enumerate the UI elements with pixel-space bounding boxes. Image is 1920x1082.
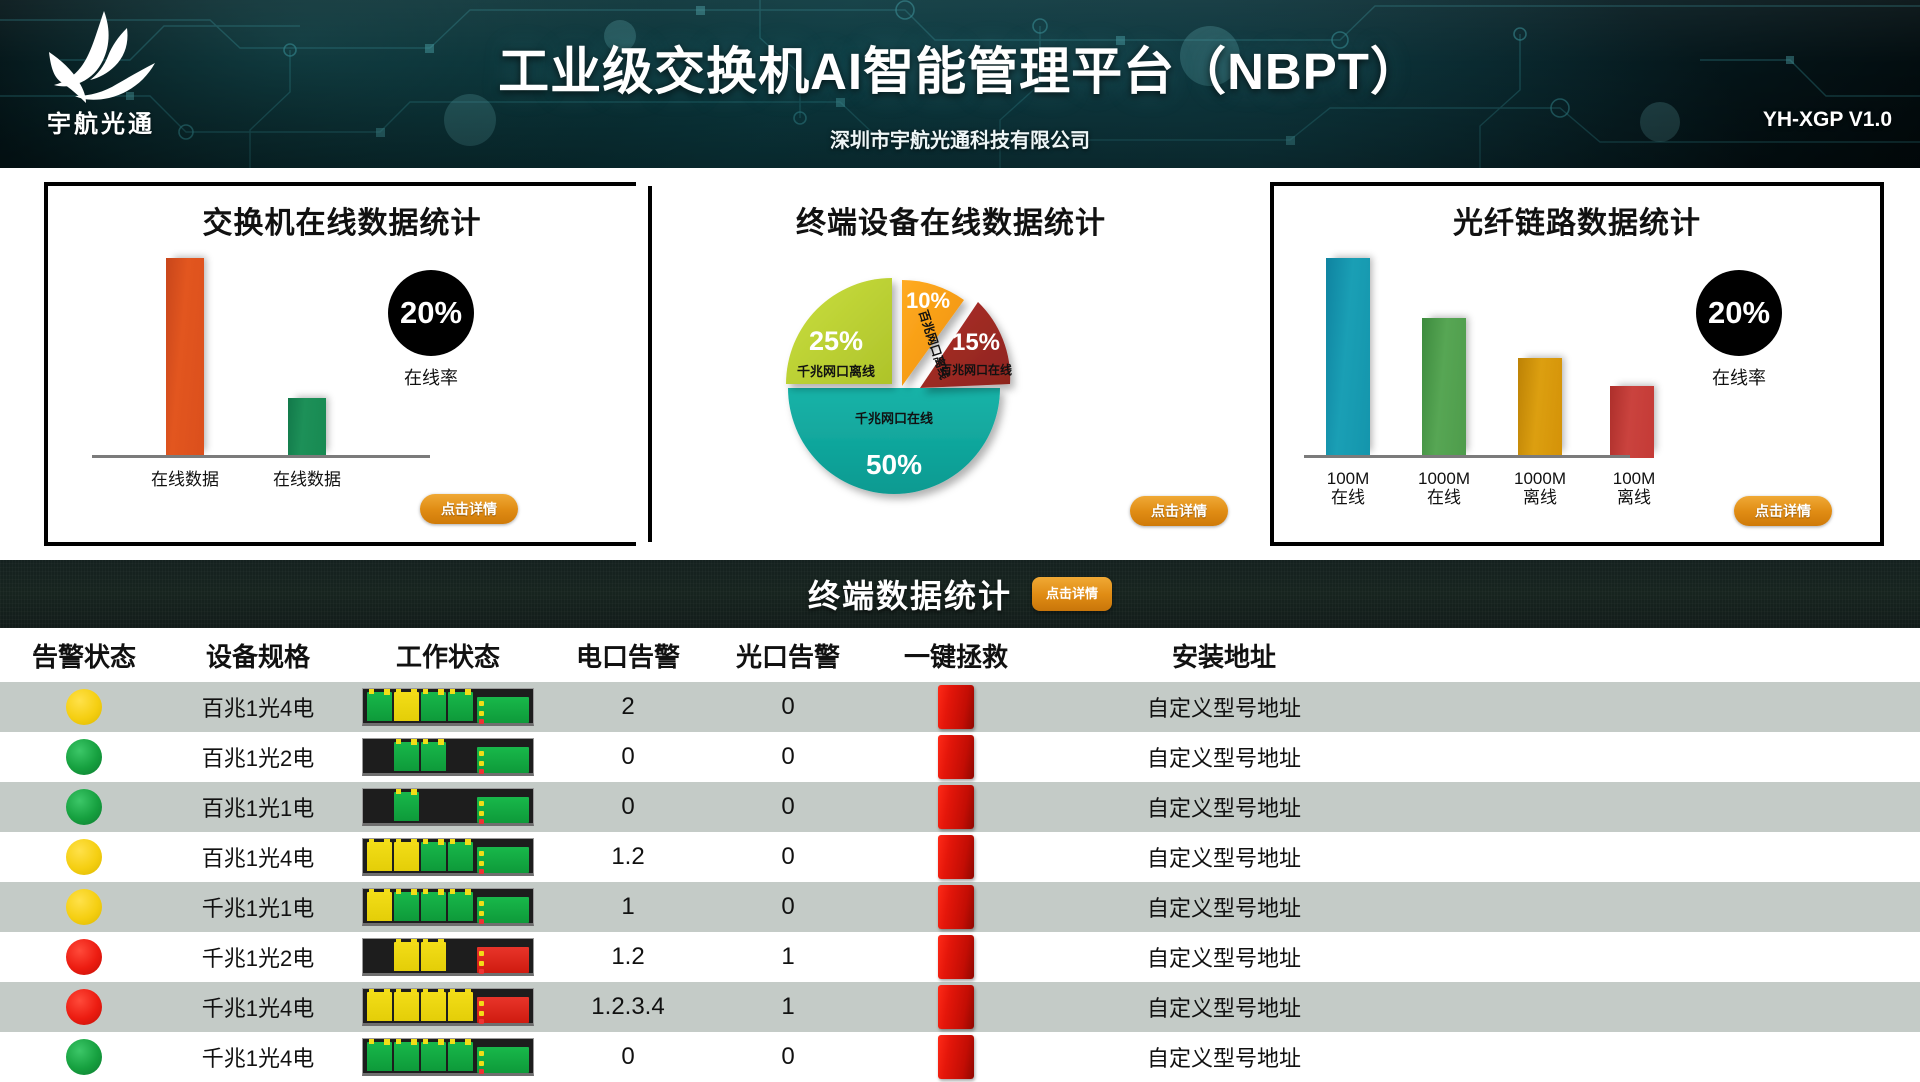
title-block: 工业级交换机AI智能管理平台（NBPT） 深圳市宇航光通科技有限公司 <box>0 30 1920 153</box>
cell-device-spec: 百兆1光4电 <box>168 832 348 882</box>
panel-terminal-title: 终端设备在线数据统计 <box>652 186 1250 242</box>
port-slot-4-off <box>448 942 473 971</box>
port-led-icon <box>411 739 417 745</box>
cell-device-spec: 百兆1光1电 <box>168 782 348 832</box>
one-key-rescue-button[interactable] <box>938 785 974 829</box>
bar-switch-1 <box>166 258 204 458</box>
port-slot-3-g <box>421 742 446 771</box>
port-led-icon <box>411 1039 417 1045</box>
port-led-icon <box>423 689 428 694</box>
fiber-led-icon <box>479 701 484 706</box>
port-slot-1-y <box>367 842 392 871</box>
bar-label-fiber-4: 100M离线 <box>1592 469 1676 508</box>
port-slot-1-g <box>367 1042 392 1071</box>
port-led-icon <box>396 889 401 894</box>
cell-alarm-status <box>0 932 168 982</box>
one-key-rescue-button[interactable] <box>938 935 974 979</box>
dashboard-panels: 交换机在线数据统计 在线数据 在线数据 20% 在线率 点击详情 终端设备在线数… <box>0 168 1920 560</box>
pie-label-gigabit-offline: 千兆网口离线 <box>797 364 875 379</box>
port-led-icon <box>423 839 428 844</box>
cell-device-spec: 千兆1光2电 <box>168 932 348 982</box>
page-title: 工业级交换机AI智能管理平台（NBPT） <box>0 30 1920 104</box>
port-slot-4-y <box>448 992 473 1021</box>
port-status-indicator[interactable] <box>362 688 534 726</box>
optical-port-alarm-value: 0 <box>781 743 794 771</box>
fiber-port-indicator <box>477 697 529 723</box>
port-slot-4-g <box>448 1042 473 1071</box>
port-led-icon <box>384 689 390 695</box>
column-header-work: 工作状态 <box>348 628 548 682</box>
table-header-row: 告警状态 设备规格 工作状态 电口告警 光口告警 一键拯救 安装地址 <box>0 628 1920 682</box>
bar-switch-2 <box>288 398 326 458</box>
port-led-icon <box>396 989 401 994</box>
column-header-alarm: 告警状态 <box>0 628 168 682</box>
port-slot-1-off <box>367 742 392 771</box>
install-address-label: 自定义型号地址 <box>1147 791 1301 823</box>
port-status-indicator[interactable] <box>362 788 534 826</box>
optical-port-alarm-value: 0 <box>781 843 794 871</box>
port-led-icon <box>369 839 374 844</box>
install-address-label: 自定义型号地址 <box>1147 891 1301 923</box>
panel-fiber-title: 光纤链路数据统计 <box>1274 186 1880 242</box>
one-key-rescue-button[interactable] <box>938 1035 974 1079</box>
optical-port-alarm-value: 0 <box>781 693 794 721</box>
cell-electrical-port-alarm: 1 <box>548 882 708 932</box>
port-led-icon <box>438 839 444 845</box>
cell-device-spec: 千兆1光4电 <box>168 982 348 1032</box>
cell-work-status[interactable] <box>348 682 548 732</box>
port-led-icon <box>396 839 401 844</box>
electrical-port-alarm-value: 1.2 <box>611 843 644 871</box>
fiber-led-icon <box>479 901 484 906</box>
cell-work-status[interactable] <box>348 1032 548 1082</box>
install-address-label: 自定义型号地址 <box>1147 841 1301 873</box>
port-led-icon <box>423 939 428 944</box>
cell-device-spec: 千兆1光1电 <box>168 882 348 932</box>
bar-fiber-2 <box>1422 318 1466 458</box>
port-slot-2-g <box>394 1042 419 1071</box>
port-slot-2-y <box>394 992 419 1021</box>
port-led-icon <box>450 989 455 994</box>
terminal-detail-button[interactable]: 点击详情 <box>1130 496 1228 526</box>
table-row[interactable]: 百兆1光2电00自定义型号地址 <box>0 732 1920 782</box>
port-led-icon <box>396 939 401 944</box>
alarm-status-yellow-icon <box>66 889 102 925</box>
device-spec-label: 千兆1光1电 <box>202 891 314 923</box>
fiber-port-indicator <box>477 797 529 823</box>
online-rate-value-fiber: 20% <box>1708 295 1770 331</box>
fiber-led-icon <box>479 1061 484 1066</box>
electrical-port-alarm-value: 1 <box>621 893 634 921</box>
fiber-led-icon <box>479 811 484 816</box>
device-spec-label: 百兆1光4电 <box>202 691 314 723</box>
electrical-port-alarm-value: 2 <box>621 693 634 721</box>
cell-optical-port-alarm: 0 <box>708 1032 868 1082</box>
port-slot-3-g <box>421 692 446 721</box>
x-axis-line-fiber <box>1304 455 1630 458</box>
app-header: 宇航光通 工业级交换机AI智能管理平台（NBPT） 深圳市宇航光通科技有限公司 … <box>0 0 1920 168</box>
cell-optical-port-alarm: 0 <box>708 682 868 732</box>
table-row[interactable]: 百兆1光4电20自定义型号地址 <box>0 682 1920 732</box>
cell-install-address: 自定义型号地址 <box>1044 982 1404 1032</box>
port-led-icon <box>396 689 401 694</box>
port-led-icon <box>438 739 444 745</box>
cell-one-key-rescue[interactable] <box>868 1032 1044 1082</box>
bar-label-switch-2: 在线数据 <box>252 470 362 490</box>
fiber-led-icon <box>479 751 484 756</box>
port-led-icon <box>384 1039 390 1045</box>
fiber-led-icon <box>479 911 484 916</box>
port-led-icon <box>411 689 417 695</box>
table-row[interactable]: 千兆1光1电10自定义型号地址 <box>0 882 1920 932</box>
port-led-icon <box>411 839 417 845</box>
cell-electrical-port-alarm: 1.2 <box>548 832 708 882</box>
company-name: 深圳市宇航光通科技有限公司 <box>0 124 1920 153</box>
port-led-icon <box>423 1039 428 1044</box>
port-led-icon <box>396 739 401 744</box>
port-slot-3-off <box>421 792 446 821</box>
fiber-detail-button[interactable]: 点击详情 <box>1734 496 1832 526</box>
cell-spacer <box>1404 932 1920 982</box>
optical-port-alarm-value: 0 <box>781 1043 794 1071</box>
port-status-indicator[interactable] <box>362 838 534 876</box>
cell-work-status[interactable] <box>348 732 548 782</box>
fiber-led-icon <box>479 801 484 806</box>
port-led-icon <box>450 839 455 844</box>
cell-electrical-port-alarm: 0 <box>548 1032 708 1082</box>
table-row[interactable]: 百兆1光4电1.20自定义型号地址 <box>0 832 1920 882</box>
port-led-icon <box>411 789 417 795</box>
cell-spacer <box>1404 882 1920 932</box>
x-axis-line <box>92 455 430 458</box>
port-led-icon <box>369 989 374 994</box>
cell-alarm-status <box>0 832 168 882</box>
port-led-icon <box>438 989 444 995</box>
cell-one-key-rescue[interactable] <box>868 932 1044 982</box>
cell-spacer <box>1404 782 1920 832</box>
port-slot-4-off <box>448 742 473 771</box>
fiber-led-icon <box>479 1051 484 1056</box>
bar-label-fiber-3: 1000M离线 <box>1492 469 1588 508</box>
cell-one-key-rescue[interactable] <box>868 882 1044 932</box>
one-key-rescue-button[interactable] <box>938 735 974 779</box>
fiber-port-indicator <box>477 997 529 1023</box>
cell-alarm-status <box>0 1032 168 1082</box>
port-slot-2-y <box>394 842 419 871</box>
pie-label-100m-online: 百兆网口在线 <box>940 362 1012 377</box>
port-status-indicator[interactable] <box>362 988 534 1026</box>
alarm-status-yellow-icon <box>66 689 102 725</box>
cell-alarm-status <box>0 782 168 832</box>
port-status-indicator[interactable] <box>362 738 534 776</box>
fiber-port-indicator <box>477 1047 529 1073</box>
fiber-port-indicator <box>477 897 529 923</box>
fiber-led-icon <box>479 851 484 856</box>
cell-one-key-rescue[interactable] <box>868 682 1044 732</box>
table-row[interactable]: 千兆1光4电00自定义型号地址 <box>0 1032 1920 1082</box>
port-led-icon <box>465 1039 471 1045</box>
pie-value-gigabit-online: 50% <box>866 449 922 480</box>
cell-install-address: 自定义型号地址 <box>1044 682 1404 732</box>
fiber-led-icon <box>479 819 484 824</box>
cell-work-status[interactable] <box>348 832 548 882</box>
cell-spacer <box>1404 682 1920 732</box>
cell-spacer <box>1404 982 1920 1032</box>
electrical-port-alarm-value: 0 <box>621 1043 634 1071</box>
column-header-eport: 电口告警 <box>548 628 708 682</box>
install-address-label: 自定义型号地址 <box>1147 741 1301 773</box>
port-led-icon <box>450 889 455 894</box>
port-slot-3-y <box>421 992 446 1021</box>
cell-electrical-port-alarm: 1.2 <box>548 932 708 982</box>
cell-install-address: 自定义型号地址 <box>1044 732 1404 782</box>
cell-alarm-status <box>0 732 168 782</box>
panel-switch-title: 交换机在线数据统计 <box>48 186 636 242</box>
optical-port-alarm-value: 1 <box>781 993 794 1021</box>
section-title: 终端数据统计 <box>808 571 1012 617</box>
panel-terminal-stats: 终端设备在线数据统计 <box>636 168 1260 560</box>
fiber-port-indicator <box>477 947 529 973</box>
port-status-indicator[interactable] <box>362 1038 534 1076</box>
port-slot-3-y <box>421 942 446 971</box>
cell-electrical-port-alarm: 2 <box>548 682 708 732</box>
bar-label-fiber-2: 1000M在线 <box>1396 469 1492 508</box>
port-slot-4-g <box>448 892 473 921</box>
fiber-port-indicator <box>477 847 529 873</box>
column-header-spec: 设备规格 <box>168 628 348 682</box>
online-rate-caption-switch: 在线率 <box>388 364 474 390</box>
port-slot-3-g <box>421 842 446 871</box>
optical-port-alarm-value: 0 <box>781 893 794 921</box>
cell-work-status[interactable] <box>348 932 548 982</box>
fiber-led-icon <box>479 861 484 866</box>
port-slot-4-g <box>448 692 473 721</box>
fiber-led-icon <box>479 1011 484 1016</box>
cell-one-key-rescue[interactable] <box>868 982 1044 1032</box>
cell-install-address: 自定义型号地址 <box>1044 1032 1404 1082</box>
terminal-data-table: 告警状态 设备规格 工作状态 电口告警 光口告警 一键拯救 安装地址 百兆1光4… <box>0 628 1920 1082</box>
port-slot-3-g <box>421 1042 446 1071</box>
fiber-led-icon <box>479 1019 484 1024</box>
panel-switch-stats: 交换机在线数据统计 在线数据 在线数据 20% 在线率 点击详情 <box>0 168 636 560</box>
port-slot-2-y <box>394 692 419 721</box>
port-led-icon <box>438 939 444 945</box>
port-led-icon <box>384 889 390 895</box>
one-key-rescue-button[interactable] <box>938 835 974 879</box>
cell-optical-port-alarm: 0 <box>708 832 868 882</box>
electrical-port-alarm-value: 1.2 <box>611 943 644 971</box>
optical-port-alarm-value: 0 <box>781 793 794 821</box>
switch-detail-button[interactable]: 点击详情 <box>420 494 518 524</box>
port-slot-2-g <box>394 792 419 821</box>
fiber-led-icon <box>479 761 484 766</box>
alarm-status-red-icon <box>66 939 102 975</box>
cell-electrical-port-alarm: 1.2.3.4 <box>548 982 708 1032</box>
fiber-led-icon <box>479 719 484 724</box>
bar-fiber-1 <box>1326 258 1370 458</box>
port-led-icon <box>438 889 444 895</box>
one-key-rescue-button[interactable] <box>938 885 974 929</box>
cell-optical-port-alarm: 1 <box>708 982 868 1032</box>
column-header-spacer <box>1404 628 1920 682</box>
fiber-led-icon <box>479 1069 484 1074</box>
install-address-label: 自定义型号地址 <box>1147 1041 1301 1073</box>
alarm-status-green-icon <box>66 789 102 825</box>
cell-install-address: 自定义型号地址 <box>1044 932 1404 982</box>
bar-label-fiber-1: 100M在线 <box>1306 469 1390 508</box>
electrical-port-alarm-value: 0 <box>621 743 634 771</box>
device-spec-label: 千兆1光4电 <box>202 991 314 1023</box>
port-status-indicator[interactable] <box>362 938 534 976</box>
cell-device-spec: 千兆1光4电 <box>168 1032 348 1082</box>
cell-install-address: 自定义型号地址 <box>1044 782 1404 832</box>
port-slot-1-off <box>367 792 392 821</box>
port-led-icon <box>438 1039 444 1045</box>
port-slot-1-y <box>367 992 392 1021</box>
port-led-icon <box>465 839 471 845</box>
port-led-icon <box>423 889 428 894</box>
cell-device-spec: 百兆1光4电 <box>168 682 348 732</box>
cell-spacer <box>1404 1032 1920 1082</box>
cell-alarm-status <box>0 982 168 1032</box>
device-spec-label: 百兆1光2电 <box>202 741 314 773</box>
port-led-icon <box>450 689 455 694</box>
device-spec-label: 千兆1光4电 <box>202 1041 314 1073</box>
cell-work-status[interactable] <box>348 882 548 932</box>
optical-port-alarm-value: 1 <box>781 943 794 971</box>
device-spec-label: 百兆1光1电 <box>202 791 314 823</box>
cell-install-address: 自定义型号地址 <box>1044 832 1404 882</box>
port-slot-2-g <box>394 742 419 771</box>
port-slot-4-off <box>448 792 473 821</box>
fiber-led-icon <box>479 1001 484 1006</box>
port-led-icon <box>369 689 374 694</box>
terminal-data-section-bar: 终端数据统计 点击详情 <box>0 560 1920 628</box>
port-led-icon <box>411 989 417 995</box>
table-row[interactable]: 百兆1光1电00自定义型号地址 <box>0 782 1920 832</box>
cell-optical-port-alarm: 0 <box>708 732 868 782</box>
device-spec-label: 千兆1光2电 <box>202 941 314 973</box>
cell-spacer <box>1404 832 1920 882</box>
one-key-rescue-button[interactable] <box>938 985 974 1029</box>
one-key-rescue-button[interactable] <box>938 685 974 729</box>
cell-one-key-rescue[interactable] <box>868 782 1044 832</box>
bar-fiber-3 <box>1518 358 1562 458</box>
cell-optical-port-alarm: 0 <box>708 882 868 932</box>
port-led-icon <box>465 889 471 895</box>
online-rate-badge-fiber: 20% <box>1696 270 1782 356</box>
cell-optical-port-alarm: 1 <box>708 932 868 982</box>
port-slot-2-g <box>394 892 419 921</box>
install-address-label: 自定义型号地址 <box>1147 991 1301 1023</box>
section-detail-button[interactable]: 点击详情 <box>1032 577 1112 611</box>
port-led-icon <box>369 1039 374 1044</box>
version-label: YH-XGP V1.0 <box>1763 108 1892 132</box>
pie-value-gigabit-offline: 25% <box>809 326 863 356</box>
port-led-icon <box>411 939 417 945</box>
switch-bar-chart: 在线数据 在线数据 20% 在线率 <box>48 242 636 542</box>
online-rate-value-switch: 20% <box>400 295 462 331</box>
table-body: 百兆1光4电20自定义型号地址百兆1光2电00自定义型号地址百兆1光1电00自定… <box>0 682 1920 1082</box>
column-header-rescue: 一键拯救 <box>868 628 1044 682</box>
port-led-icon <box>411 889 417 895</box>
electrical-port-alarm-value: 0 <box>621 793 634 821</box>
port-slot-2-y <box>394 942 419 971</box>
terminal-pie-chart: 25% 千兆网口离线 10% 百兆网口离线 15% 百兆网口在线 千兆网口在线 … <box>652 238 1250 528</box>
cell-spacer <box>1404 732 1920 782</box>
pie-label-gigabit-online: 千兆网口在线 <box>855 411 933 426</box>
alarm-status-green-icon <box>66 1039 102 1075</box>
device-spec-label: 百兆1光4电 <box>202 841 314 873</box>
column-header-addr: 安装地址 <box>1044 628 1404 682</box>
cell-electrical-port-alarm: 0 <box>548 732 708 782</box>
cell-optical-port-alarm: 0 <box>708 782 868 832</box>
install-address-label: 自定义型号地址 <box>1147 691 1301 723</box>
column-header-oport: 光口告警 <box>708 628 868 682</box>
cell-work-status[interactable] <box>348 782 548 832</box>
cell-one-key-rescue[interactable] <box>868 732 1044 782</box>
port-led-icon <box>465 689 471 695</box>
bar-label-switch-1: 在线数据 <box>130 470 240 490</box>
fiber-port-indicator <box>477 747 529 773</box>
fiber-led-icon <box>479 711 484 716</box>
cell-electrical-port-alarm: 0 <box>548 782 708 832</box>
cell-alarm-status <box>0 682 168 732</box>
table-row[interactable]: 千兆1光2电1.21自定义型号地址 <box>0 932 1920 982</box>
port-led-icon <box>396 1039 401 1044</box>
fiber-led-icon <box>479 969 484 974</box>
online-rate-caption-fiber: 在线率 <box>1696 364 1782 390</box>
cell-work-status[interactable] <box>348 982 548 1032</box>
port-led-icon <box>438 689 444 695</box>
panel-fiber-stats: 光纤链路数据统计 100M在线 1000M在线 1000M离线 100M离线 2… <box>1260 168 1920 560</box>
fiber-led-icon <box>479 951 484 956</box>
port-led-icon <box>423 739 428 744</box>
fiber-led-icon <box>479 869 484 874</box>
cell-install-address: 自定义型号地址 <box>1044 882 1404 932</box>
port-led-icon <box>465 989 471 995</box>
port-led-icon <box>384 989 390 995</box>
port-slot-3-g <box>421 892 446 921</box>
port-slot-1-y <box>367 892 392 921</box>
fiber-led-icon <box>479 769 484 774</box>
port-slot-4-g <box>448 842 473 871</box>
electrical-port-alarm-value: 1.2.3.4 <box>591 993 664 1021</box>
port-status-indicator[interactable] <box>362 888 534 926</box>
alarm-status-yellow-icon <box>66 839 102 875</box>
port-led-icon <box>396 789 401 794</box>
bar-fiber-4 <box>1610 386 1654 458</box>
port-led-icon <box>423 989 428 994</box>
alarm-status-green-icon <box>66 739 102 775</box>
port-led-icon <box>369 889 374 894</box>
install-address-label: 自定义型号地址 <box>1147 941 1301 973</box>
cell-device-spec: 百兆1光2电 <box>168 732 348 782</box>
alarm-status-red-icon <box>66 989 102 1025</box>
port-led-icon <box>450 1039 455 1044</box>
port-led-icon <box>384 839 390 845</box>
pie-value-100m-online: 15% <box>952 329 1000 356</box>
fiber-led-icon <box>479 919 484 924</box>
port-slot-1-off <box>367 942 392 971</box>
table-row[interactable]: 千兆1光4电1.2.3.41自定义型号地址 <box>0 982 1920 1032</box>
fiber-led-icon <box>479 961 484 966</box>
cell-alarm-status <box>0 882 168 932</box>
port-slot-1-g <box>367 692 392 721</box>
online-rate-badge-switch: 20% <box>388 270 474 356</box>
cell-one-key-rescue[interactable] <box>868 832 1044 882</box>
